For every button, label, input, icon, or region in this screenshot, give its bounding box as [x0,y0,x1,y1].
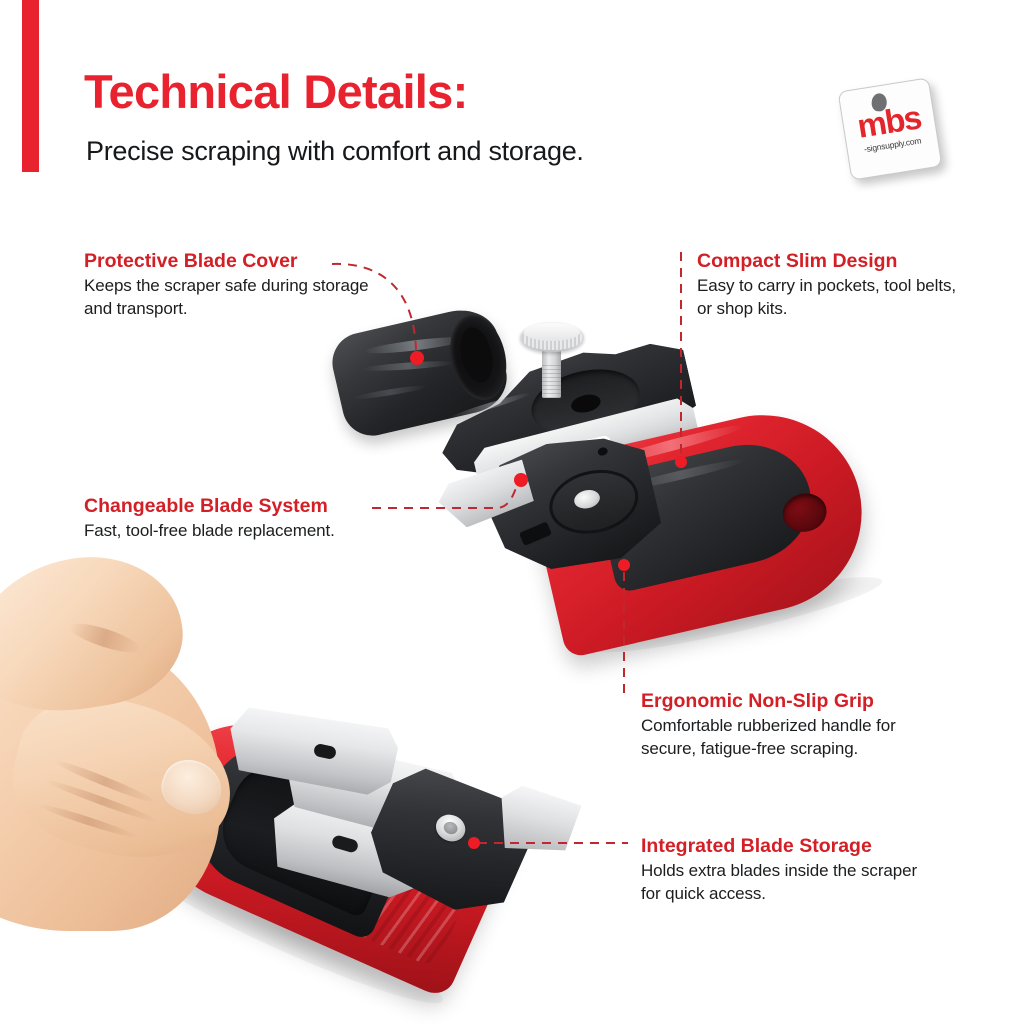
hand-illustration [0,545,310,945]
callout-body: Easy to carry in pockets, tool belts, or… [697,275,967,319]
callout-title: Changeable Blade System [84,495,384,517]
callout-protective-blade-cover: Protective Blade Cover Keeps the scraper… [84,250,374,320]
callout-body: Keeps the scraper safe during storage an… [84,275,374,319]
callout-changeable-blade-system: Changeable Blade System Fast, tool-free … [84,495,384,543]
callout-title: Integrated Blade Storage [641,835,941,857]
callout-compact-slim-design: Compact Slim Design Easy to carry in poc… [697,250,967,320]
callout-integrated-blade-storage: Integrated Blade Storage Holds extra bla… [641,835,941,905]
callout-ergonomic-non-slip-grip: Ergonomic Non-Slip Grip Comfortable rubb… [641,690,941,760]
callout-body: Fast, tool-free blade replacement. [84,520,384,542]
callout-body: Comfortable rubberized handle for secure… [641,715,941,759]
thumbscrew-threads [542,362,561,398]
callout-title: Protective Blade Cover [84,250,374,272]
thumbscrew-part [520,322,584,400]
callout-title: Ergonomic Non-Slip Grip [641,690,941,712]
callout-title: Compact Slim Design [697,250,967,272]
thumbscrew-head-top [524,323,580,341]
infographic-canvas: Technical Details: Precise scraping with… [0,0,1024,1024]
callout-body: Holds extra blades inside the scraper fo… [641,860,941,904]
